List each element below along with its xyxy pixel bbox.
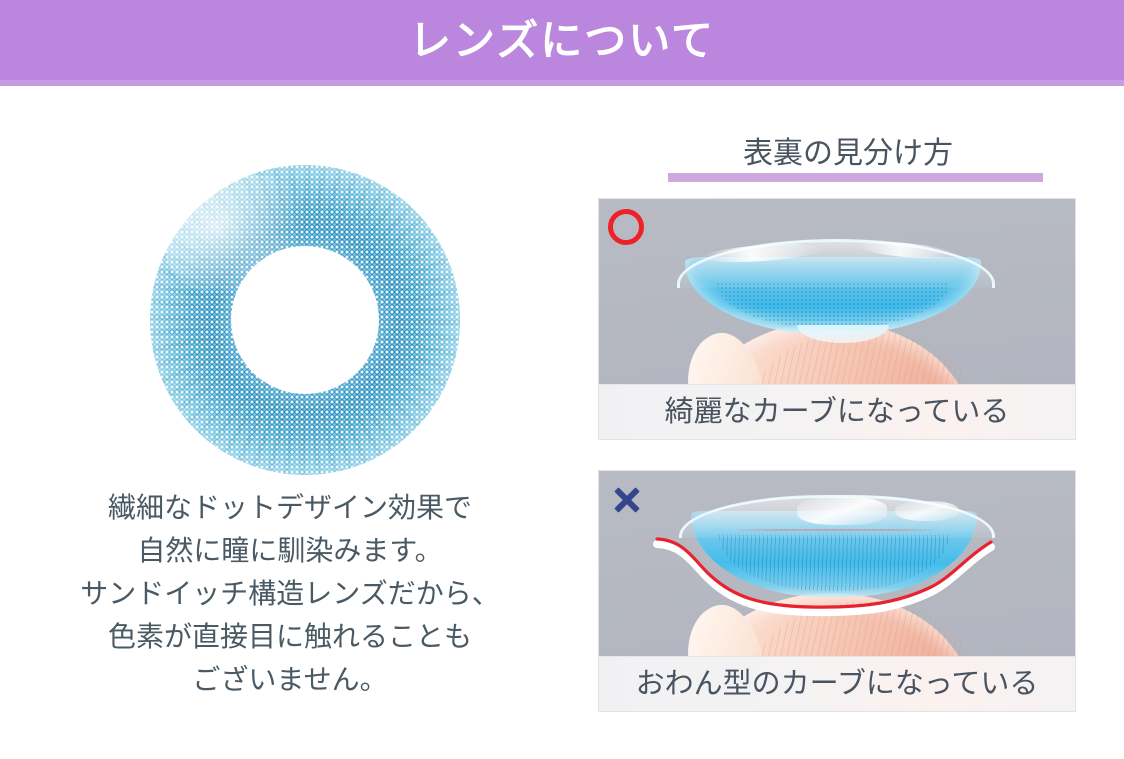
- lens-description-line: サンドイッチ構造レンズだから、: [0, 572, 580, 615]
- cross-icon: [608, 481, 646, 519]
- section-heading: 表裏の見分け方: [598, 134, 1098, 186]
- circle-icon: [608, 209, 644, 245]
- lens-description-line: 繊細なドットデザイン効果で: [0, 486, 580, 529]
- lens-description-line: ございません。: [0, 658, 580, 701]
- content-area: 繊細なドットデザイン効果で 自然に瞳に馴染みます。 サンドイッチ構造レンズだから…: [0, 86, 1124, 759]
- lens-rim: [677, 239, 995, 288]
- card-caption-text: 綺麗なカーブになっている: [665, 395, 1010, 429]
- section-heading-underline: [668, 173, 1043, 182]
- lens-orientation-card-correct: 綺麗なカーブになっている: [598, 198, 1076, 440]
- card-caption-bar: おわん型のカーブになっている: [599, 656, 1075, 711]
- left-column: 繊細なドットデザイン効果で 自然に瞳に馴染みます。 サンドイッチ構造レンズだから…: [0, 86, 580, 759]
- page-title: レンズについて: [409, 20, 715, 62]
- page-header: レンズについて: [0, 0, 1124, 86]
- lens-inverted-curve-photo: [599, 471, 1075, 656]
- card-caption-text: おわん型のカーブになっている: [636, 667, 1039, 701]
- contact-lens-dot-design-image: [150, 165, 460, 475]
- lens-rim-highlight: [797, 497, 887, 525]
- lens-description: 繊細なドットデザイン効果で 自然に瞳に馴染みます。 サンドイッチ構造レンズだから…: [0, 486, 580, 701]
- lens-rim-highlight-right: [895, 501, 959, 521]
- cross-ng-marker: [608, 481, 646, 519]
- card-caption-bar: 綺麗なカーブになっている: [599, 384, 1075, 439]
- lens-orientation-card-inverted: おわん型のカーブになっている: [598, 470, 1076, 712]
- lens-pupil-hole: [231, 246, 379, 394]
- lens-description-line: 自然に瞳に馴染みます。: [0, 529, 580, 572]
- section-heading-text: 表裏の見分け方: [598, 134, 1098, 174]
- contact-lens-inverted-orientation: [679, 495, 989, 611]
- lens-inner-edge-line: [737, 529, 933, 531]
- contact-lens-correct-orientation: [677, 239, 989, 335]
- right-column: 表裏の見分け方 綺麗な: [580, 86, 1124, 759]
- lens-description-line: 色素が直接目に触れることも: [0, 615, 580, 658]
- circle-ok-marker: [608, 209, 644, 245]
- lens-correct-curve-photo: [599, 199, 1075, 384]
